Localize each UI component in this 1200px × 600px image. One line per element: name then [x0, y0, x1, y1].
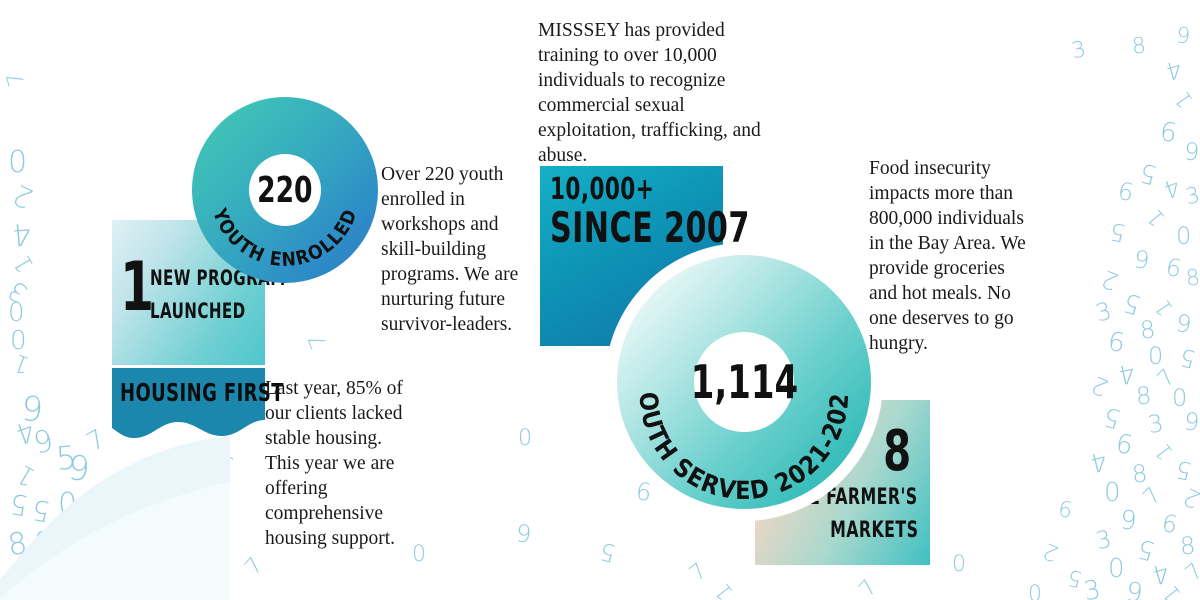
- decor-digit: 4: [11, 217, 33, 249]
- decor-digit: 1: [1152, 439, 1178, 463]
- decor-digit: 9: [1132, 247, 1150, 273]
- decor-digit: 9: [1175, 25, 1192, 49]
- donut-arc-label-youth-served: YOUTH SERVED 2021-2023: [617, 255, 871, 509]
- decor-digit: 1: [1160, 581, 1186, 600]
- decor-digit: 3: [1070, 39, 1088, 63]
- decor-digit: 7: [1182, 560, 1200, 586]
- training-label-line1: 10,000+: [550, 172, 654, 207]
- decor-digit: 7: [1154, 366, 1179, 392]
- decor-digit: 9: [1183, 139, 1200, 164]
- decor-digit: 8: [1179, 533, 1196, 558]
- decor-digit: 2: [1088, 372, 1112, 400]
- decor-digit: 3: [1082, 577, 1103, 600]
- decor-digit: 4: [1087, 446, 1109, 475]
- decor-digit: 5: [1135, 534, 1158, 564]
- decor-digit: 1: [712, 579, 738, 600]
- youth-served-arc-label: YOUTH SERVED 2021-2023: [617, 255, 854, 505]
- decor-digit: 5: [1177, 345, 1198, 372]
- decor-digit: 3: [1146, 411, 1165, 437]
- decor-digit: 7: [687, 560, 712, 586]
- decor-digit: 0: [952, 554, 966, 576]
- decor-digit: 5: [1137, 158, 1160, 187]
- decor-digit: 3: [1094, 527, 1114, 554]
- decor-digit: 6: [1114, 431, 1135, 459]
- description-youth-enrolled: Over 220 youth enrolled in workshops and…: [381, 162, 527, 337]
- decor-digit: 1: [1152, 295, 1178, 319]
- decor-digit: 9: [515, 521, 533, 546]
- decor-digit: 3: [1093, 299, 1114, 326]
- banner-housing-first: HOUSING FIRST: [112, 368, 265, 440]
- description-housing: Last year, 85% of our clients lacked sta…: [265, 376, 421, 551]
- farmers-markets-value: 8: [884, 424, 912, 480]
- decor-digit: 8: [1139, 317, 1157, 342]
- decor-digit: 0: [1148, 344, 1163, 368]
- decor-digit: 4: [1163, 56, 1184, 83]
- decor-digit: 0: [518, 428, 532, 450]
- decor-digit: 2: [9, 180, 37, 213]
- svg-text:YOUTH SERVED 2021-2023: YOUTH SERVED 2021-2023: [617, 255, 854, 505]
- decor-digit: 3: [4, 276, 32, 307]
- new-program-label-line2: LAUNCHED: [150, 299, 246, 323]
- decor-digit: 9: [1174, 311, 1193, 337]
- infographic-canvas: 7024130016495179550678024717092706529567…: [0, 0, 1200, 600]
- decor-digit: 1: [9, 251, 37, 276]
- decor-digit: 8: [1185, 267, 1200, 290]
- decor-digit: 8: [1131, 35, 1147, 58]
- description-food-insecurity: Food insecurity impacts more than 800,00…: [869, 156, 1031, 356]
- decor-digit: 4: [1160, 174, 1183, 202]
- housing-first-label: HOUSING FIRST: [120, 378, 284, 407]
- decor-digit: 6: [1164, 255, 1184, 282]
- decor-digit: 7: [242, 554, 268, 579]
- decor-digit: 8: [1131, 461, 1149, 486]
- decor-digit: 6: [1106, 329, 1126, 357]
- donut-arc-label-youth-enrolled: YOUTH ENROLLED: [192, 97, 378, 283]
- decor-digit: 0: [8, 300, 25, 326]
- decor-digit: 3: [1184, 185, 1200, 209]
- decor-digit: 6: [1160, 511, 1180, 538]
- svg-text:YOUTH ENROLLED: YOUTH ENROLLED: [208, 205, 362, 271]
- decor-digit: 2: [1180, 484, 1200, 512]
- decor-digit: 2: [1040, 538, 1061, 564]
- decor-digit: 5: [1101, 402, 1124, 432]
- decor-digit: 0: [1172, 386, 1187, 410]
- decor-digit: 9: [1119, 507, 1138, 535]
- decor-digit: 0: [8, 148, 27, 178]
- decor-digit: 4: [1149, 558, 1172, 588]
- decor-digit: 2: [1098, 266, 1121, 294]
- decor-digit: 7: [5, 69, 30, 88]
- decor-digit: 0: [1176, 224, 1191, 248]
- decor-digit: 0: [1104, 480, 1121, 506]
- decor-digit: 0: [1108, 556, 1125, 582]
- decor-digit: 1: [1144, 205, 1170, 230]
- decor-digit: 7: [1140, 484, 1166, 509]
- decor-digit: 5: [1108, 219, 1128, 246]
- decor-digit: 6: [1056, 499, 1074, 523]
- description-training: MISSSEY has provided training to over 10…: [538, 18, 776, 168]
- decor-digit: 5: [1174, 457, 1194, 484]
- decor-digit: 4: [1115, 359, 1137, 388]
- decor-digit: 7: [856, 577, 882, 600]
- decor-digit: 7: [306, 331, 331, 352]
- decor-digit: 1: [10, 350, 33, 378]
- decor-digit: 0: [10, 328, 27, 354]
- decor-digit: 5: [1066, 565, 1085, 590]
- youth-enrolled-arc-label: YOUTH ENROLLED: [208, 205, 362, 271]
- decor-digit: 5: [597, 538, 618, 565]
- farmers-markets-label-line2: MARKETS: [830, 518, 918, 543]
- decor-digit: 5: [1120, 288, 1144, 318]
- decor-digit: 8: [1135, 383, 1152, 408]
- decor-digit: 6: [1158, 119, 1178, 147]
- decor-digit: 0: [1028, 584, 1042, 600]
- decor-digit: 9: [1124, 579, 1144, 600]
- decor-digit: 9: [1182, 409, 1200, 435]
- decor-digit: 1: [1172, 87, 1198, 111]
- decor-digit: 6: [1116, 179, 1135, 205]
